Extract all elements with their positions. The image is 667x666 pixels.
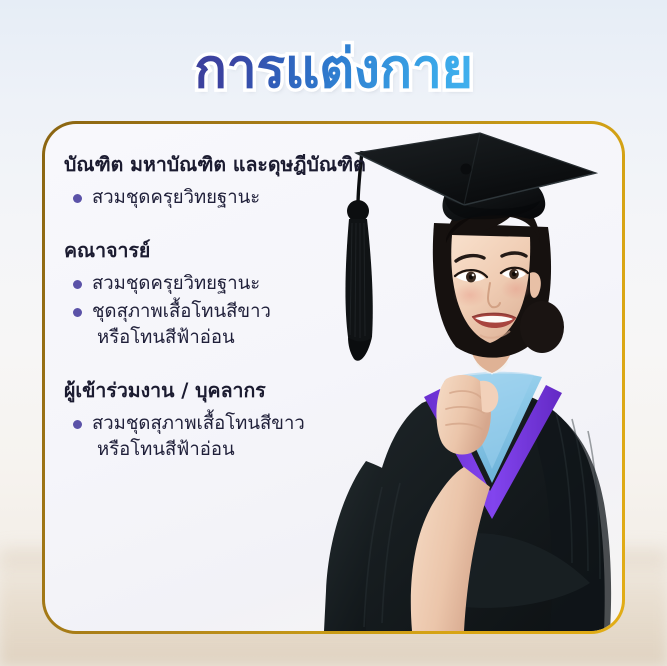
section-attendees-staff: ผู้เข้าร่วมงาน / บุคลากร สวมชุดสุภาพเสื้… — [64, 378, 424, 464]
list-item-line-1: สวมชุดครุยวิทยฐานะ — [92, 187, 260, 208]
poster-title-container: การแต่งกาย การแต่งกาย — [0, 30, 667, 108]
bullet-list: สวมชุดครุยวิทยฐานะ — [64, 185, 424, 211]
list-item: สวมชุดครุยวิทยฐานะ — [64, 185, 424, 211]
bullet-dot-icon — [73, 280, 82, 289]
content-card-inner: บัณฑิต มหาบัณฑิต และดุษฎีบัณฑิต สวมชุดคร… — [45, 124, 622, 631]
dress-code-content: บัณฑิต มหาบัณฑิต และดุษฎีบัณฑิต สวมชุดคร… — [64, 152, 424, 466]
list-item-line-2: หรือโทนสีฟ้าอ่อน — [92, 437, 424, 463]
list-item: สวมชุดสุภาพเสื้อโทนสีขาว หรือโทนสีฟ้าอ่อ… — [64, 411, 424, 464]
poster-title-text: การแต่งกาย — [194, 37, 472, 100]
list-item-line-1: สวมชุดสุภาพเสื้อโทนสีขาว — [92, 413, 305, 434]
list-item-line-2: หรือโทนสีฟ้าอ่อน — [92, 325, 424, 351]
poster-root: การแต่งกาย การแต่งกาย — [0, 0, 667, 666]
list-item: สวมชุดครุยวิทยฐานะ — [64, 271, 424, 297]
section-faculty: คณาจารย์ สวมชุดครุยวิทยฐานะ ชุดสุภาพเสื้… — [64, 238, 424, 352]
content-card: บัณฑิต มหาบัณฑิต และดุษฎีบัณฑิต สวมชุดคร… — [42, 121, 625, 634]
section-heading: คณาจารย์ — [64, 238, 424, 264]
bullet-list: สวมชุดครุยวิทยฐานะ ชุดสุภาพเสื้อโทนสีขาว… — [64, 271, 424, 352]
bullet-dot-icon — [73, 420, 82, 429]
section-heading: ผู้เข้าร่วมงาน / บุคลากร — [64, 378, 424, 404]
bullet-list: สวมชุดสุภาพเสื้อโทนสีขาว หรือโทนสีฟ้าอ่อ… — [64, 411, 424, 464]
bullet-dot-icon — [73, 194, 82, 203]
poster-title: การแต่งกาย การแต่งกาย — [194, 42, 472, 96]
list-item-line-1: สวมชุดครุยวิทยฐานะ — [92, 273, 260, 294]
list-item-line-1: ชุดสุภาพเสื้อโทนสีขาว — [92, 301, 271, 322]
section-graduates: บัณฑิต มหาบัณฑิต และดุษฎีบัณฑิต สวมชุดคร… — [64, 152, 424, 212]
list-item: ชุดสุภาพเสื้อโทนสีขาว หรือโทนสีฟ้าอ่อน — [64, 299, 424, 352]
section-heading: บัณฑิต มหาบัณฑิต และดุษฎีบัณฑิต — [64, 152, 424, 178]
bullet-dot-icon — [73, 308, 82, 317]
